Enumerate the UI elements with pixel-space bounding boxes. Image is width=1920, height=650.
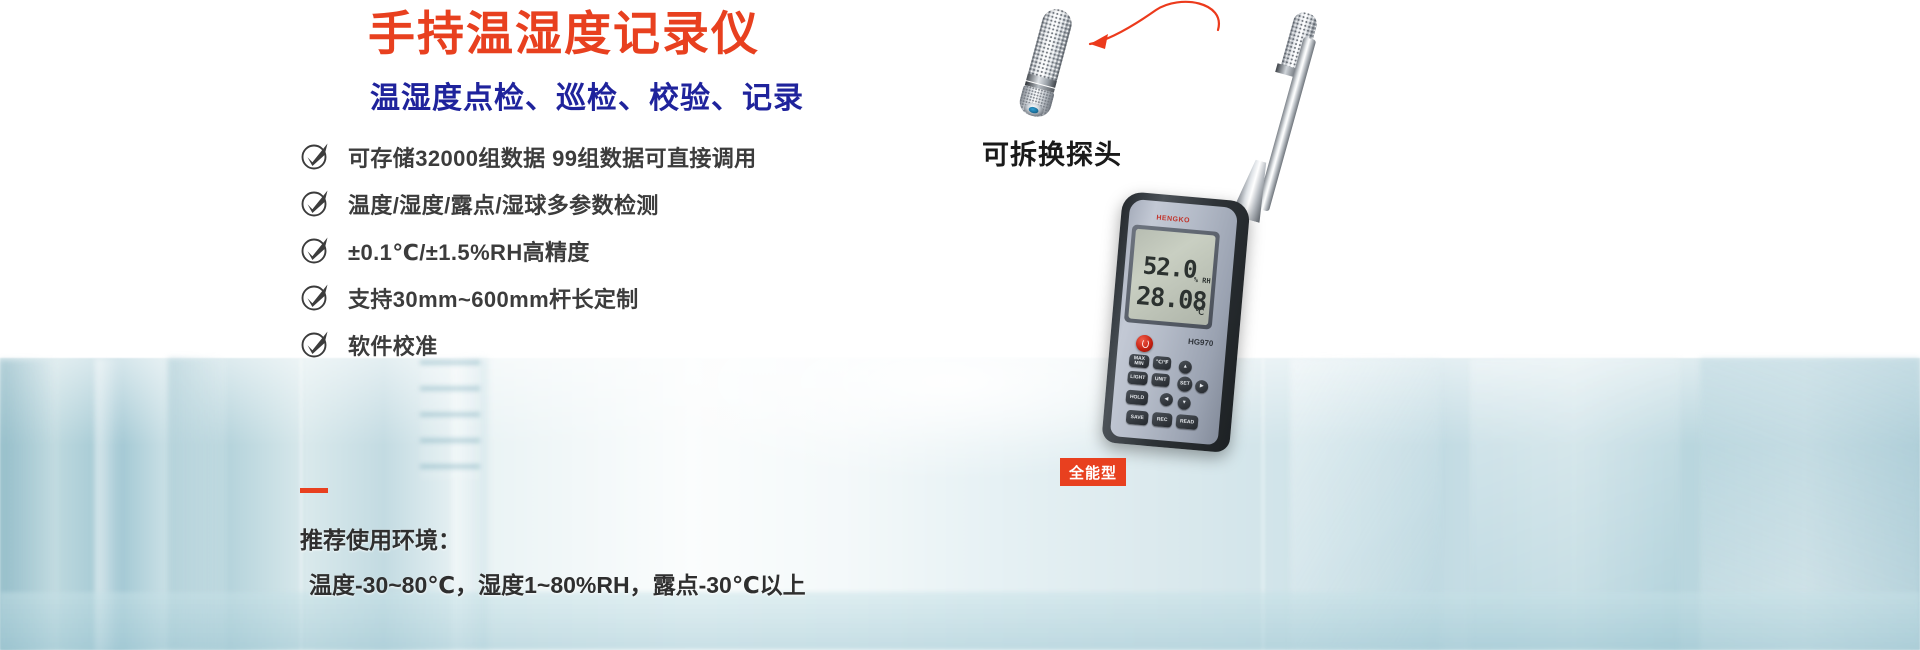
lcd-humidity-unit: % RH [1193, 276, 1210, 285]
key-save[interactable]: SAVE [1126, 410, 1149, 426]
key-light[interactable]: LIGHT [1127, 371, 1148, 386]
key-up[interactable]: ▲ [1178, 360, 1192, 374]
circle-check-icon [300, 282, 330, 312]
usage-note: 推荐使用环境： 温度-30~80℃，湿度1~80%RH，露点-30℃以上 [300, 518, 806, 608]
list-item: 支持30mm~600mm杆长定制 [300, 274, 1000, 321]
key-maxmin[interactable]: MAX MIN [1129, 354, 1150, 369]
list-item: ±0.1℃/±1.5%RH高精度 [300, 227, 1000, 274]
lcd-temperature-unit: ℃ [1195, 307, 1205, 317]
key-right[interactable]: ▶ [1195, 380, 1209, 394]
key-unit[interactable]: UNIT [1151, 373, 1170, 388]
background-shelf [420, 360, 480, 480]
handheld-meter-image: HENGKO 52.0 % RH 28.08 ℃ HG970 MAX MIN ℃… [1050, 10, 1380, 650]
usage-note-detail: 温度-30~80℃，湿度1~80%RH，露点-30℃以上 [300, 563, 806, 608]
list-item: 软件校准 [300, 321, 1000, 368]
note-accent-dash [300, 488, 328, 493]
lcd-bezel: 52.0 % RH 28.08 ℃ [1124, 224, 1220, 329]
status-badge: 全能型 [1060, 458, 1126, 486]
list-item: 温度/湿度/露点/湿球多参数检测 [300, 180, 1000, 227]
key-rec[interactable]: REC [1152, 412, 1173, 428]
feature-list: 可存储32000组数据 99组数据可直接调用 温度/湿度/露点/湿球多参数检测 … [300, 133, 1000, 368]
circle-check-icon [300, 141, 330, 171]
device-keypad: MAX MIN ℃/℉ LIGHT UNIT ▲ SET ◀ ▶ ▼ HOLD … [1121, 354, 1234, 445]
key-read[interactable]: READ [1175, 414, 1198, 430]
circle-check-icon [300, 329, 330, 359]
page-subtitle: 温湿度点检、巡检、校验、记录 [370, 82, 804, 115]
key-hold[interactable]: HOLD [1125, 390, 1148, 406]
key-unit-c-f[interactable]: ℃/℉ [1153, 356, 1172, 371]
list-item-label: 可存储32000组数据 99组数据可直接调用 [348, 141, 757, 173]
list-item-label: 软件校准 [348, 329, 438, 361]
lcd-screen: 52.0 % RH 28.08 ℃ [1128, 229, 1216, 326]
key-set[interactable]: SET [1177, 376, 1193, 392]
lcd-humidity-value: 52.0 [1142, 251, 1198, 284]
circle-check-icon [300, 188, 330, 218]
page-title: 手持温湿度记录仪 [368, 8, 760, 61]
usage-note-title: 推荐使用环境： [300, 518, 806, 563]
product-banner: 手持温湿度记录仪 温湿度点检、巡检、校验、记录 可存储32000组数据 99组数… [0, 0, 1920, 650]
circle-check-icon [300, 235, 330, 265]
key-down[interactable]: ▼ [1177, 396, 1191, 410]
key-left[interactable]: ◀ [1159, 393, 1173, 407]
list-item: 可存储32000组数据 99组数据可直接调用 [300, 133, 1000, 180]
list-item-label: ±0.1℃/±1.5%RH高精度 [348, 235, 590, 267]
background-floor [0, 592, 1920, 650]
list-item-label: 支持30mm~600mm杆长定制 [348, 282, 639, 314]
list-item-label: 温度/湿度/露点/湿球多参数检测 [348, 188, 659, 220]
